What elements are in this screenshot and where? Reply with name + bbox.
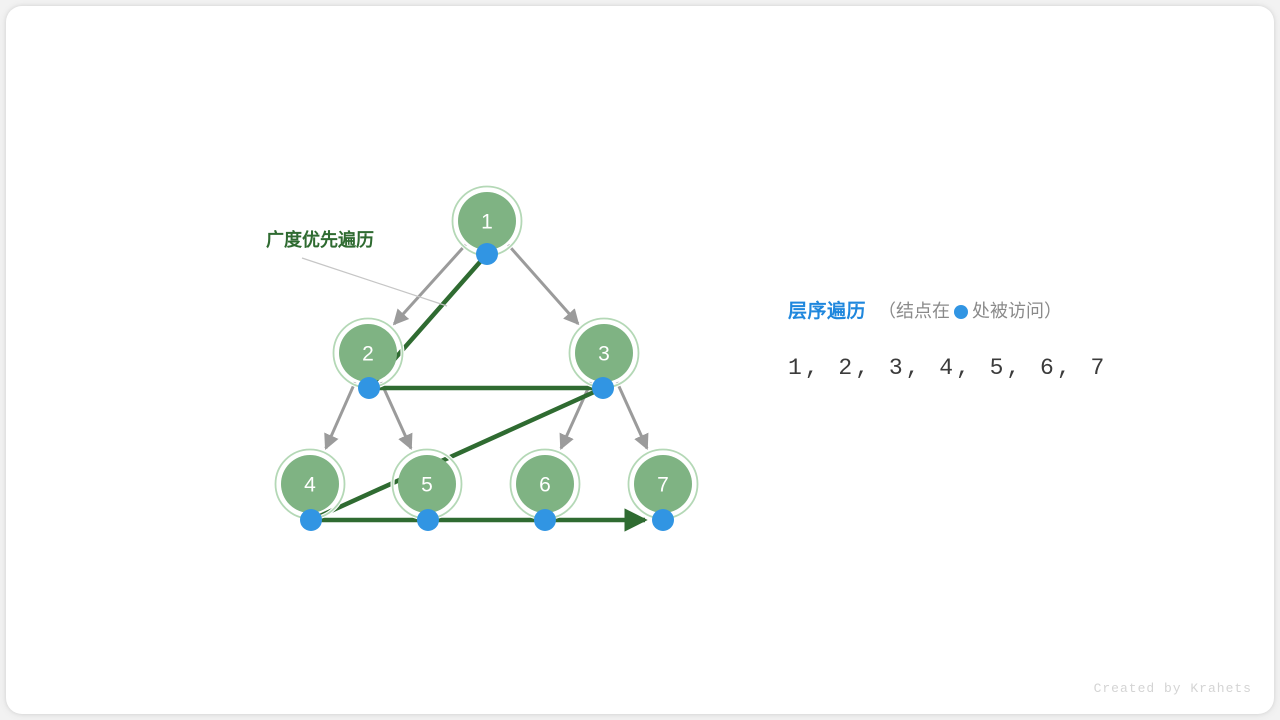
tree-node-7[interactable]: 7 [629,450,698,519]
node-value-3: 3 [598,343,610,366]
credit-footer: Created by Krahets [1094,681,1252,696]
bfs-caption-label: 广度优先遍历 [266,229,374,250]
slide-card: 1234567 广度优先遍历 层序遍历 （结点在 处被访问） 1, 2, 3, … [6,6,1274,714]
tree-edge-2-5 [381,382,411,448]
tree-node-6[interactable]: 6 [511,450,580,519]
visit-dot-node-4 [300,509,322,531]
panel-note-suffix: 处被访问） [972,302,1062,320]
caption-leader-line [302,258,447,306]
traversal-sequence: 1, 2, 3, 4, 5, 6, 7 [788,355,1228,381]
node-value-4: 4 [304,474,316,497]
visit-dot-node-5 [417,509,439,531]
node-value-2: 2 [362,343,374,366]
visit-dot-node-2 [358,377,380,399]
traversal-info-panel: 层序遍历 （结点在 处被访问） 1, 2, 3, 4, 5, 6, 7 [788,302,1228,381]
panel-title: 层序遍历 [788,302,866,321]
node-value-5: 5 [421,474,433,497]
visit-dot-node-7 [652,509,674,531]
tree-edge-2-4 [326,382,355,448]
screenshot-root: 1234567 广度优先遍历 层序遍历 （结点在 处被访问） 1, 2, 3, … [0,0,1280,720]
node-value-7: 7 [657,474,669,497]
visit-dot-icon [954,305,968,319]
tree-edge-3-7 [617,382,647,448]
tree-node-4[interactable]: 4 [276,450,345,519]
panel-note-prefix: （结点在 [878,302,950,320]
tree-edge-1-3 [508,245,578,324]
node-value-1: 1 [481,211,493,234]
visit-dot-node-6 [534,509,556,531]
leader-line [302,258,447,306]
panel-note: （结点在 处被访问） [878,302,1062,320]
tree-edge-1-2 [394,245,466,324]
node-value-6: 6 [539,474,551,497]
visit-dot-node-1 [476,243,498,265]
visit-dot-node-3 [592,377,614,399]
tree-node-5[interactable]: 5 [393,450,462,519]
tree-edge-3-6 [561,382,591,448]
panel-header: 层序遍历 （结点在 处被访问） [788,302,1228,321]
